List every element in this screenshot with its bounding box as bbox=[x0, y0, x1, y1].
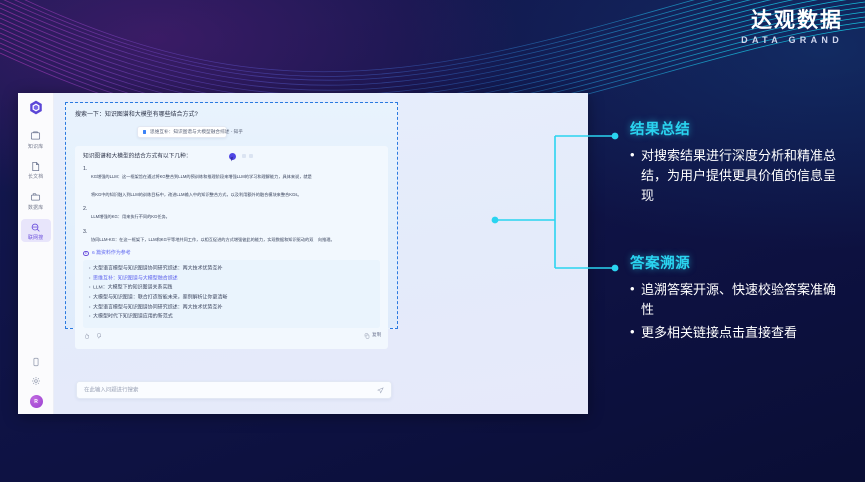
search-input-placeholder: 在此输入问题进行搜索 bbox=[84, 386, 465, 394]
source-link: LLM：大模型下的知识图谱关系实践 bbox=[93, 284, 172, 292]
list-item[interactable]: • LLM：大模型下的知识图谱关系实践 bbox=[89, 284, 374, 290]
item-line: 协同LLM-KG：在这一框架下，LLM和KG平等地共同工作，以相互促进的方式增强… bbox=[91, 237, 313, 242]
list-item: 1. KG增强的LLM：这一框架旨在通过将KG整合到LLM的预训练和推理阶段来增… bbox=[83, 165, 380, 201]
brand-name-en: DATA GRAND bbox=[741, 36, 843, 45]
sources-section: 6 6 篇资料作为参考 • 大型语言模型与知识图谱协同研究综述：两大技术优势互补 bbox=[83, 251, 380, 328]
reference-chip-label: 思维互补：知识图谱与大模型融合综述 - 知乎 bbox=[150, 129, 243, 136]
copy-label: 复制 bbox=[372, 333, 381, 340]
callout-bullet: 对搜索结果进行深度分析和精准总结，为用户提供更具价值的信息呈现 bbox=[630, 146, 846, 206]
callout-heading: 答案溯源 bbox=[630, 252, 846, 273]
chip-marker-icon bbox=[143, 130, 146, 133]
list-item[interactable]: • 大模型与知识图谱：联合打造智能未来，案例解析让你更清晰 bbox=[89, 294, 374, 300]
callout-block-answer-tracing: 答案溯源 追溯答案开源、快速校验答案准确性 更多相关链接点击直接查看 bbox=[630, 252, 846, 346]
item-line: 向推理。 bbox=[318, 237, 335, 242]
callout-connector bbox=[486, 125, 626, 280]
highlighted-answer-region: 搜索一下：知识图谱和大模型有哪些结合方式? 思维互补：知识图谱与大模型融合综述 … bbox=[65, 102, 398, 329]
list-item: 3. 协同LLM-KG：在这一框架下，LLM和KG平等地共同工作，以相互促进的方… bbox=[83, 228, 380, 246]
sources-label: 6 篇资料作为参考 bbox=[92, 250, 131, 257]
callout-bullet-list: 追溯答案开源、快速校验答案准确性 更多相关链接点击直接查看 bbox=[630, 280, 846, 343]
sidebar-item-label: 长文档 bbox=[28, 174, 43, 181]
copy-button[interactable]: 复制 bbox=[364, 333, 379, 339]
web-search-icon bbox=[30, 222, 41, 233]
callout-heading: 结果总结 bbox=[630, 118, 846, 139]
avatar[interactable]: R bbox=[30, 395, 43, 408]
sidebar-item-long-document[interactable]: 长文档 bbox=[21, 158, 51, 182]
sidebar-item-label: 知识库 bbox=[28, 144, 43, 151]
sources-circle-icon: 6 bbox=[83, 251, 89, 257]
database-icon bbox=[30, 191, 41, 202]
item-line: LLM增强的KG：用来执行不同的KG任务。 bbox=[91, 214, 170, 219]
item-number: 1. bbox=[83, 165, 93, 210]
reference-chip[interactable]: 思维互补：知识图谱与大模型融合综述 - 知乎 bbox=[137, 126, 227, 138]
answer-intro: 知识图谱和大模型的结合方式有以下几种： bbox=[83, 152, 191, 160]
thumbs-up-icon[interactable] bbox=[84, 333, 90, 339]
source-link: 大模型与知识图谱：联合打造智能未来，案例解析让你更清晰 bbox=[93, 293, 227, 301]
copy-icon bbox=[364, 333, 370, 339]
source-link: 大型语言模型与知识图谱协同研究综述：两大技术优势互补 bbox=[93, 264, 222, 272]
user-question: 搜索一下：知识图谱和大模型有哪些结合方式? bbox=[75, 111, 482, 119]
list-item[interactable]: • 大模型时代下知识图谱应用的新范式 bbox=[89, 313, 374, 319]
sidebar-item-database[interactable]: 数据库 bbox=[21, 188, 51, 212]
brand-logo: 达观数据 DATA GRAND bbox=[741, 10, 843, 45]
sidebar-item-label: 联网搜 bbox=[28, 235, 43, 242]
sources-list-box: • 大型语言模型与知识图谱协同研究综述：两大技术优势互补 • 思维互补：知识图谱… bbox=[83, 260, 380, 328]
answer-card: 知识图谱和大模型的结合方式有以下几种： 1. KG增强的LLM：这一框架旨在通过… bbox=[75, 146, 388, 349]
sidebar-item-web-search[interactable]: 联网搜 bbox=[21, 219, 51, 243]
source-link: 大模型时代下知识图谱应用的新范式 bbox=[93, 312, 173, 320]
gear-icon[interactable] bbox=[31, 376, 41, 386]
document-icon bbox=[30, 161, 41, 172]
callout-bullet: 追溯答案开源、快速校验答案准确性 bbox=[630, 280, 846, 320]
source-link: 大型语言模型与知识图谱协同研究综述：两大技术优势互补 bbox=[93, 303, 222, 311]
callout-bullet-list: 对搜索结果进行深度分析和精准总结，为用户提供更具价值的信息呈现 bbox=[630, 146, 846, 206]
sidebar-bottom-group: R bbox=[18, 357, 54, 408]
feedback-row: 复制 bbox=[83, 333, 380, 343]
sources-header[interactable]: 6 6 篇资料作为参考 bbox=[83, 251, 380, 257]
inline-citation-tags[interactable] bbox=[242, 154, 253, 158]
knowledge-base-icon bbox=[30, 130, 41, 141]
answer-item-list: 1. KG增强的LLM：这一框架旨在通过将KG整合到LLM的预训练和推理阶段来增… bbox=[83, 165, 380, 246]
answer-intro-row: 知识图谱和大模型的结合方式有以下几种： bbox=[83, 153, 380, 160]
item-line: KG增强的LLM：这一框架旨在通过将KG整合到LLM的预训练和推理阶段来增强LL… bbox=[91, 174, 312, 179]
list-item[interactable]: • 大型语言模型与知识图谱协同研究综述：两大技术优势互补 bbox=[89, 304, 374, 310]
item-number: 3. bbox=[83, 228, 93, 251]
mobile-icon[interactable] bbox=[31, 357, 41, 367]
app-sidebar: 知识库 长文档 数据库 联网搜 bbox=[18, 93, 54, 414]
callout-block-result-summary: 结果总结 对搜索结果进行深度分析和精准总结，为用户提供更具价值的信息呈现 bbox=[630, 118, 846, 209]
slide-background: 达观数据 DATA GRAND 知识库 长文档 bbox=[0, 0, 865, 482]
brand-name-cn: 达观数据 bbox=[741, 10, 843, 31]
callout-bullet: 更多相关链接点击直接查看 bbox=[630, 323, 846, 343]
search-input[interactable]: 在此输入问题进行搜索 bbox=[76, 381, 392, 399]
mouse-cursor bbox=[229, 153, 236, 160]
sidebar-item-label: 数据库 bbox=[28, 205, 43, 212]
decorative-wave-lines bbox=[0, 0, 865, 100]
list-item: 2. LLM增强的KG：用来执行不同的KG任务。 bbox=[83, 205, 380, 223]
hexagon-logo-icon[interactable] bbox=[29, 100, 43, 115]
list-item[interactable]: • 大型语言模型与知识图谱协同研究综述：两大技术优势互补 bbox=[89, 265, 374, 271]
list-item[interactable]: • 思维互补：知识图谱与大模型融合综述 bbox=[89, 275, 374, 281]
item-line: 将KG中的知识融入到LLM的训练目标中，改进LLM输入中的知识整合方式，以及利用… bbox=[91, 192, 302, 197]
sidebar-item-knowledge-base[interactable]: 知识库 bbox=[21, 127, 51, 151]
source-link: 思维互补：知识图谱与大模型融合综述 bbox=[93, 274, 178, 282]
item-number: 2. bbox=[83, 205, 93, 228]
thumbs-down-icon[interactable] bbox=[96, 333, 102, 339]
